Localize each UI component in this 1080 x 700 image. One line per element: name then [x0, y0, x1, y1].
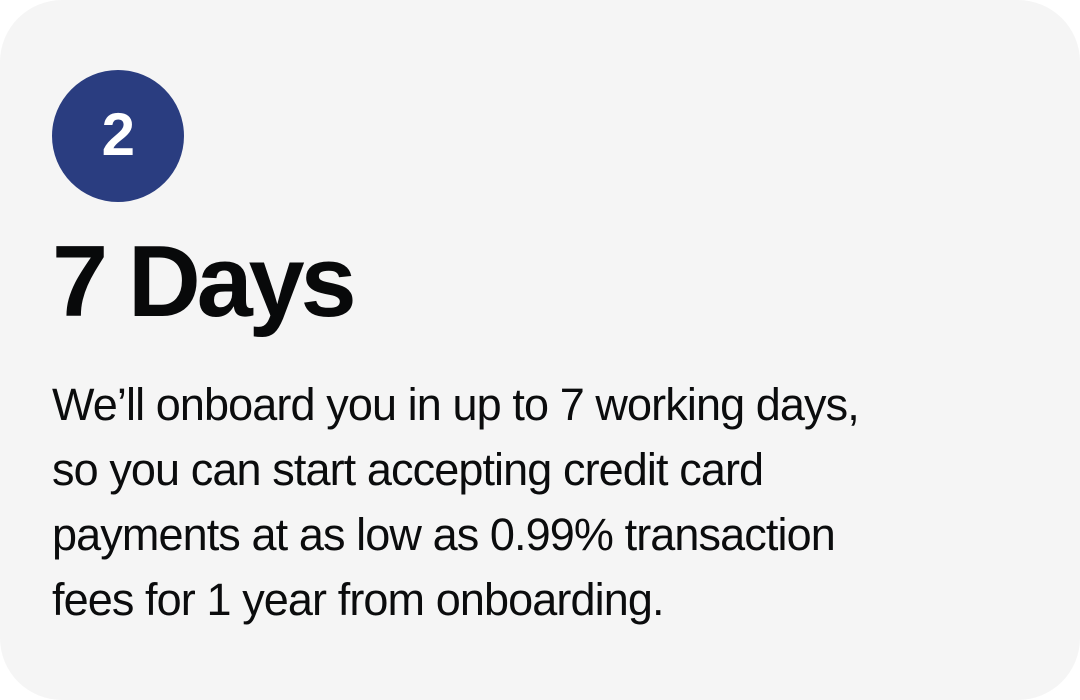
body-line: We’ll onboard you in up to 7 working day… [52, 372, 1042, 437]
feature-card: 2 7 Days We’ll onboard you in up to 7 wo… [0, 0, 1080, 700]
card-heading: 7 Days [52, 232, 353, 333]
step-number-label: 2 [102, 105, 135, 165]
body-line: fees for 1 year from onboarding. [52, 567, 1042, 632]
card-body-text: We’ll onboard you in up to 7 working day… [52, 372, 1042, 632]
step-number-badge: 2 [52, 70, 184, 202]
body-line: so you can start accepting credit card [52, 437, 1042, 502]
body-line: payments at as low as 0.99% transaction [52, 502, 1042, 567]
